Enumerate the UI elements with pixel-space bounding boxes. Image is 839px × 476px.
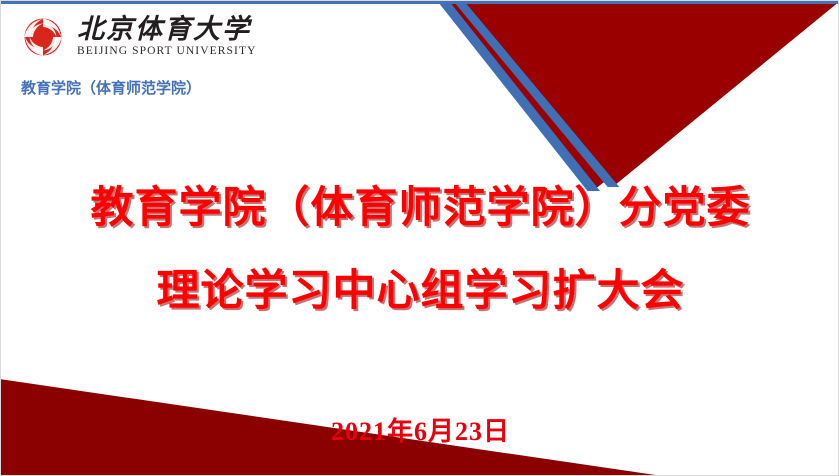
slide-date: 2021年6月23日: [1, 411, 839, 448]
title-line-1: 教育学院（体育师范学院）分党委: [1, 187, 839, 230]
bsu-swirl-logo-icon: [15, 9, 71, 65]
title-line-2: 理论学习中心组学习扩大会: [1, 270, 839, 313]
university-logo-row: 北京体育大学 BEIJING SPORT UNIVERSITY: [15, 9, 256, 65]
university-name-en: BEIJING SPORT UNIVERSITY: [77, 46, 256, 58]
slide-header: 北京体育大学 BEIJING SPORT UNIVERSITY 教育学院（体育师…: [15, 9, 256, 98]
university-name-cn: 北京体育大学: [77, 16, 251, 43]
slide-title-block: 教育学院（体育师范学院）分党委 理论学习中心组学习扩大会: [1, 187, 839, 313]
department-label: 教育学院（体育师范学院）: [21, 77, 201, 98]
university-wordmark: 北京体育大学 BEIJING SPORT UNIVERSITY: [77, 16, 256, 58]
presentation-slide: 北京体育大学 BEIJING SPORT UNIVERSITY 教育学院（体育师…: [0, 0, 839, 476]
blue-top-rule: [1, 1, 839, 4]
